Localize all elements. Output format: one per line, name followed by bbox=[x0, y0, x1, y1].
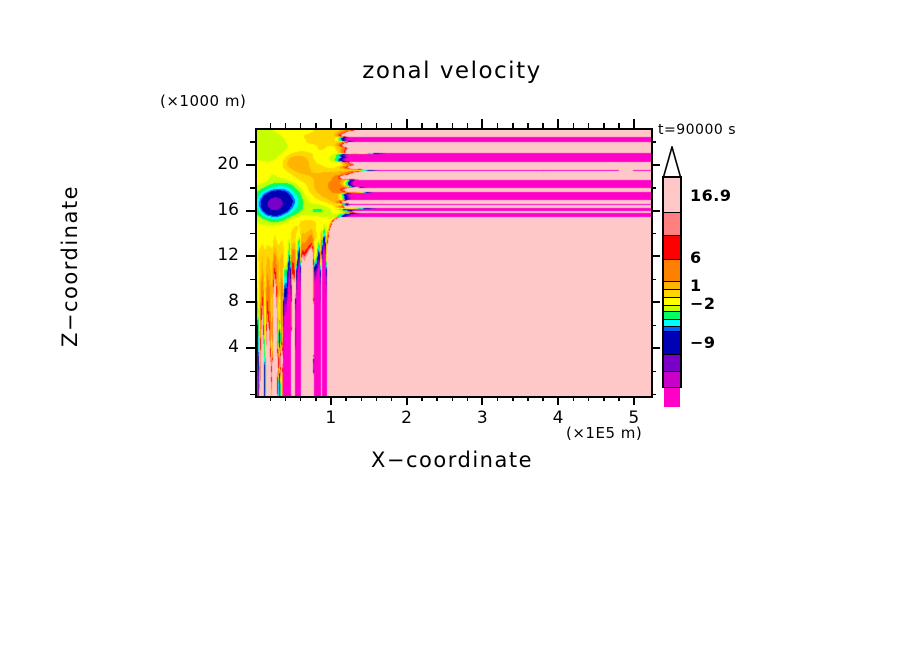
x-tick-label: 2 bbox=[392, 408, 422, 428]
tick-mark bbox=[361, 123, 363, 128]
tick-mark bbox=[633, 396, 635, 405]
tick-mark bbox=[376, 396, 378, 401]
plot-area bbox=[255, 128, 653, 398]
y-tick-label: 12 bbox=[207, 245, 239, 265]
tick-mark bbox=[467, 123, 469, 128]
tick-mark bbox=[651, 279, 656, 281]
tick-mark bbox=[391, 396, 393, 401]
colorbar-band bbox=[664, 213, 680, 236]
colorbar-label: 16.9 bbox=[690, 186, 731, 205]
tick-mark bbox=[246, 301, 255, 303]
tick-mark bbox=[512, 396, 514, 401]
colorbar-arrow-icon bbox=[662, 146, 682, 178]
x-tick-label: 1 bbox=[316, 408, 346, 428]
colorbar-band bbox=[664, 312, 680, 320]
tick-mark bbox=[270, 123, 272, 128]
colorbar-band bbox=[664, 355, 680, 372]
contour-field bbox=[257, 130, 651, 396]
y-axis-unit-label: (×1000 m) bbox=[160, 92, 246, 110]
tick-mark bbox=[250, 279, 255, 281]
tick-mark bbox=[651, 141, 656, 143]
tick-mark bbox=[250, 187, 255, 189]
tick-mark bbox=[651, 164, 660, 166]
tick-mark bbox=[651, 187, 656, 189]
tick-mark bbox=[651, 233, 656, 235]
tick-mark bbox=[361, 396, 363, 401]
tick-mark bbox=[588, 396, 590, 401]
x-tick-label: 5 bbox=[619, 408, 649, 428]
tick-mark bbox=[651, 301, 660, 303]
tick-mark bbox=[573, 123, 575, 128]
contour-plot-figure: zonal velocity (×1000 m) t=90000 s (×1E5… bbox=[0, 0, 904, 654]
tick-mark bbox=[345, 396, 347, 401]
colorbar-label: 6 bbox=[690, 248, 702, 267]
colorbar-band bbox=[664, 282, 680, 290]
tick-mark bbox=[421, 396, 423, 401]
tick-mark bbox=[285, 123, 287, 128]
tick-mark bbox=[557, 396, 559, 405]
colorbar-label: −2 bbox=[690, 294, 716, 313]
colorbar-band bbox=[664, 178, 680, 213]
colorbar-band bbox=[664, 388, 680, 406]
colorbar-band bbox=[664, 260, 680, 282]
tick-mark bbox=[436, 123, 438, 128]
tick-mark bbox=[481, 396, 483, 405]
tick-mark bbox=[330, 396, 332, 405]
tick-mark bbox=[512, 123, 514, 128]
tick-mark bbox=[467, 396, 469, 401]
tick-mark bbox=[406, 119, 408, 128]
tick-mark bbox=[651, 255, 660, 257]
tick-mark bbox=[603, 123, 605, 128]
tick-mark bbox=[527, 396, 529, 401]
tick-mark bbox=[527, 123, 529, 128]
tick-mark bbox=[246, 210, 255, 212]
colorbar-label: −9 bbox=[690, 333, 716, 352]
tick-mark bbox=[250, 141, 255, 143]
tick-mark bbox=[651, 325, 656, 327]
tick-mark bbox=[542, 396, 544, 401]
chart-title-text: zonal velocity bbox=[362, 58, 541, 84]
tick-mark bbox=[250, 325, 255, 327]
colorbar-label: 1 bbox=[690, 276, 702, 295]
tick-mark bbox=[573, 396, 575, 401]
tick-mark bbox=[345, 123, 347, 128]
tick-mark bbox=[557, 119, 559, 128]
tick-mark bbox=[633, 119, 635, 128]
tick-mark bbox=[246, 255, 255, 257]
tick-mark bbox=[246, 164, 255, 166]
time-annotation: t=90000 s bbox=[658, 122, 736, 138]
page-title: zonal velocity bbox=[0, 58, 904, 84]
tick-mark bbox=[497, 123, 499, 128]
tick-mark bbox=[651, 371, 656, 373]
tick-mark bbox=[497, 396, 499, 401]
x-tick-label: 4 bbox=[543, 408, 573, 428]
colorbar-band bbox=[664, 298, 680, 306]
colorbar-band bbox=[664, 332, 680, 355]
tick-mark bbox=[618, 123, 620, 128]
tick-mark bbox=[452, 396, 454, 401]
tick-mark bbox=[651, 210, 660, 212]
colorbar[interactable] bbox=[662, 176, 682, 388]
y-tick-label: 8 bbox=[207, 291, 239, 311]
y-tick-label: 4 bbox=[207, 337, 239, 357]
tick-mark bbox=[270, 396, 272, 401]
tick-mark bbox=[250, 233, 255, 235]
tick-mark bbox=[376, 123, 378, 128]
tick-mark bbox=[300, 123, 302, 128]
tick-mark bbox=[250, 394, 255, 396]
tick-mark bbox=[406, 396, 408, 405]
tick-mark bbox=[542, 123, 544, 128]
tick-mark bbox=[588, 123, 590, 128]
y-axis-title: Z−coordinate bbox=[58, 136, 82, 396]
tick-mark bbox=[436, 396, 438, 401]
tick-mark bbox=[391, 123, 393, 128]
tick-mark bbox=[651, 347, 660, 349]
tick-mark bbox=[250, 371, 255, 373]
x-tick-label: 3 bbox=[467, 408, 497, 428]
tick-mark bbox=[315, 123, 317, 128]
colorbar-band bbox=[664, 290, 680, 298]
tick-mark bbox=[285, 396, 287, 401]
tick-mark bbox=[618, 396, 620, 401]
tick-mark bbox=[452, 123, 454, 128]
x-axis-title: X−coordinate bbox=[255, 448, 649, 472]
colorbar-band bbox=[664, 236, 680, 260]
colorbar-band bbox=[664, 372, 680, 389]
tick-mark bbox=[421, 123, 423, 128]
y-tick-label: 20 bbox=[207, 154, 239, 174]
y-tick-label: 16 bbox=[207, 200, 239, 220]
tick-mark bbox=[246, 347, 255, 349]
colorbar-band bbox=[664, 320, 680, 327]
tick-mark bbox=[651, 394, 656, 396]
tick-mark bbox=[300, 396, 302, 401]
tick-mark bbox=[330, 119, 332, 128]
tick-mark bbox=[481, 119, 483, 128]
tick-mark bbox=[315, 396, 317, 401]
tick-mark bbox=[603, 396, 605, 401]
